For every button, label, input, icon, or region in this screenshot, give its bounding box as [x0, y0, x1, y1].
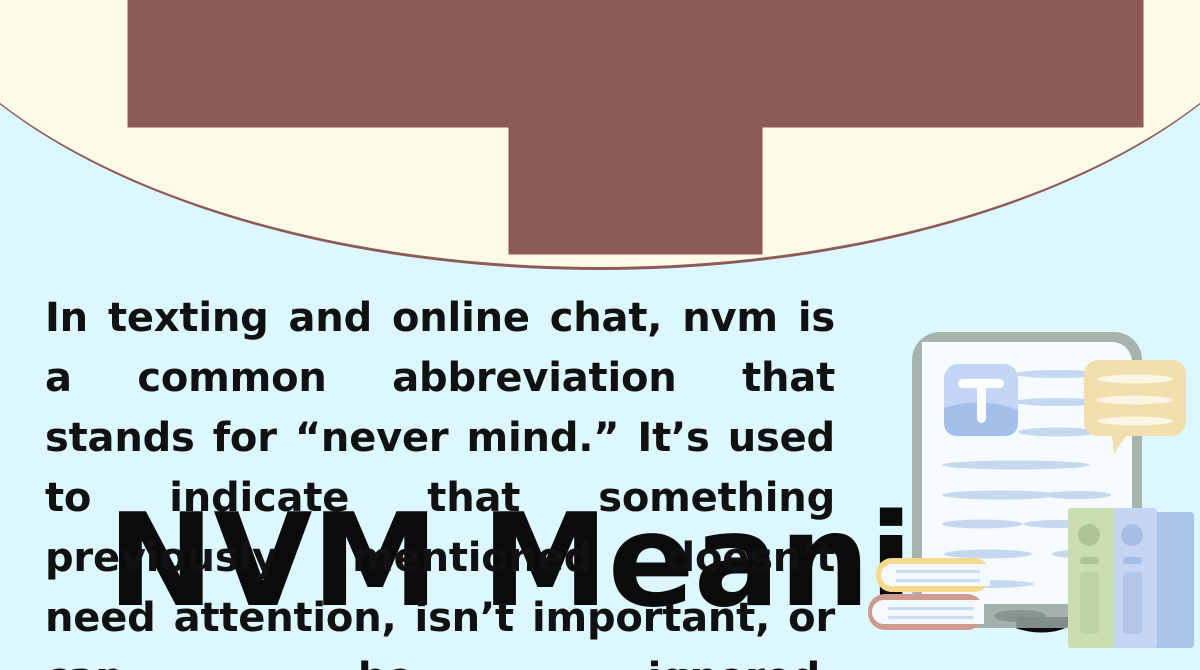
- binder-lavender: [1111, 508, 1157, 648]
- book-bottom: [868, 594, 984, 630]
- header-banner: [0, 0, 1200, 270]
- text-letter-icon: [944, 364, 1018, 436]
- poster-canvas: NVM Meaning In texting and online chat, …: [0, 0, 1200, 670]
- illustration: [860, 322, 1200, 670]
- binder-green: [1068, 508, 1114, 648]
- book-top: [876, 558, 990, 592]
- definition-paragraph: In texting and online chat, nvm is a com…: [45, 288, 835, 670]
